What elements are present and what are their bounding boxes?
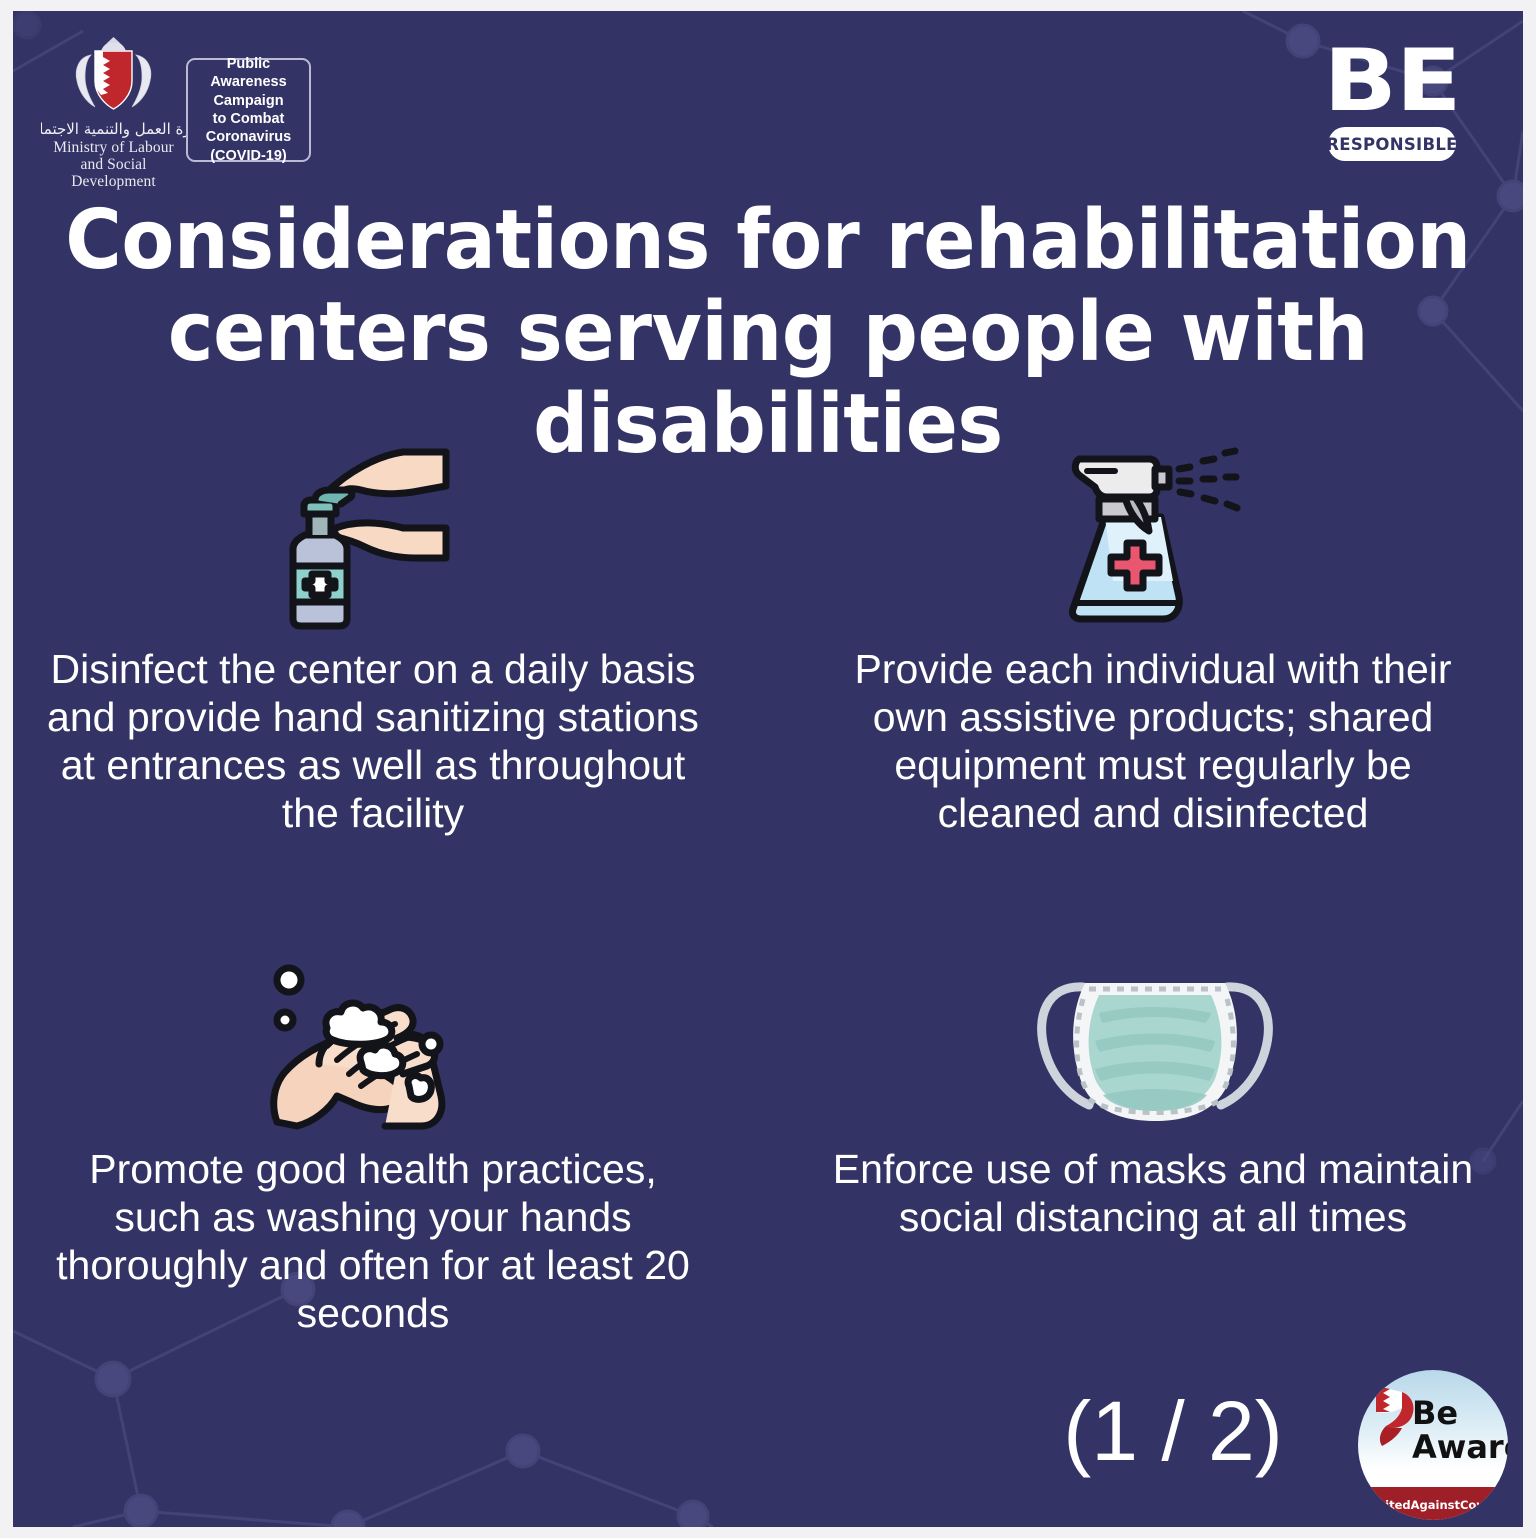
guideline-card: Promote good health practices, such as w… [23, 921, 723, 1337]
washing-hands-with-soap-icon [23, 921, 723, 1131]
be-logo-pill-label: RESPONSIBLE [1326, 135, 1457, 154]
guideline-card: Provide each individual with their own a… [803, 421, 1503, 837]
be-logo-pill: RESPONSIBLE [1328, 127, 1456, 161]
campaign-line-4: Coronavirus [188, 128, 309, 146]
guideline-text: Disinfect the center on a daily basis an… [23, 645, 723, 837]
be-logo-word: BE [1286, 43, 1499, 119]
guideline-text: Provide each individual with their own a… [803, 645, 1503, 837]
guideline-card: Enforce use of masks and maintain social… [803, 921, 1503, 1241]
be-responsible-logo: BE RESPONSIBLE [1297, 43, 1487, 161]
ministry-logo: وزارة العمل والتنمية الاجتماعية Ministry… [41, 37, 186, 190]
ministry-name-line-2: and Social Development [41, 156, 186, 190]
guidelines-grid: Disinfect the center on a daily basis an… [13, 411, 1523, 1411]
guideline-card: Disinfect the center on a daily basis an… [23, 421, 723, 837]
guideline-text: Promote good health practices, such as w… [23, 1145, 723, 1337]
poster-canvas: وزارة العمل والتنمية الاجتماعية Ministry… [13, 11, 1523, 1527]
be-aware-line-1: Be [1412, 1396, 1508, 1430]
ministry-name-arabic: وزارة العمل والتنمية الاجتماعية [41, 117, 186, 139]
ministry-name-english: Ministry of Labour and Social Developmen… [41, 139, 186, 190]
campaign-line-5: (COVID-19) [188, 147, 309, 165]
svg-text:وزارة العمل والتنمية الاجتماعي: وزارة العمل والتنمية الاجتماعية [41, 120, 186, 138]
poster-header: وزارة العمل والتنمية الاجتماعية Ministry… [13, 11, 1523, 191]
campaign-line-3: to Combat [188, 110, 309, 128]
campaign-line-1: Public Awareness [188, 55, 309, 92]
surgical-face-mask-icon [803, 921, 1503, 1131]
bahrain-national-emblem-icon [41, 37, 186, 115]
be-aware-line-2: Aware [1412, 1430, 1508, 1464]
page-counter: (1 / 2) [1013, 1383, 1333, 1479]
campaign-badge: Public Awareness Campaign to Combat Coro… [186, 58, 311, 162]
be-aware-badge-words: Be Aware [1412, 1396, 1508, 1464]
be-aware-badge: Be Aware #UnitedAgainstCovid19 [1358, 1370, 1508, 1520]
hand-sanitizer-dispenser-icon [23, 421, 723, 631]
be-aware-hashtag: #UnitedAgainstCovid19 [1358, 1498, 1508, 1512]
guideline-text: Enforce use of masks and maintain social… [803, 1145, 1503, 1241]
campaign-line-2: Campaign [188, 92, 309, 110]
disinfectant-spray-bottle-icon [803, 421, 1503, 631]
ministry-name-line-1: Ministry of Labour [41, 139, 186, 156]
